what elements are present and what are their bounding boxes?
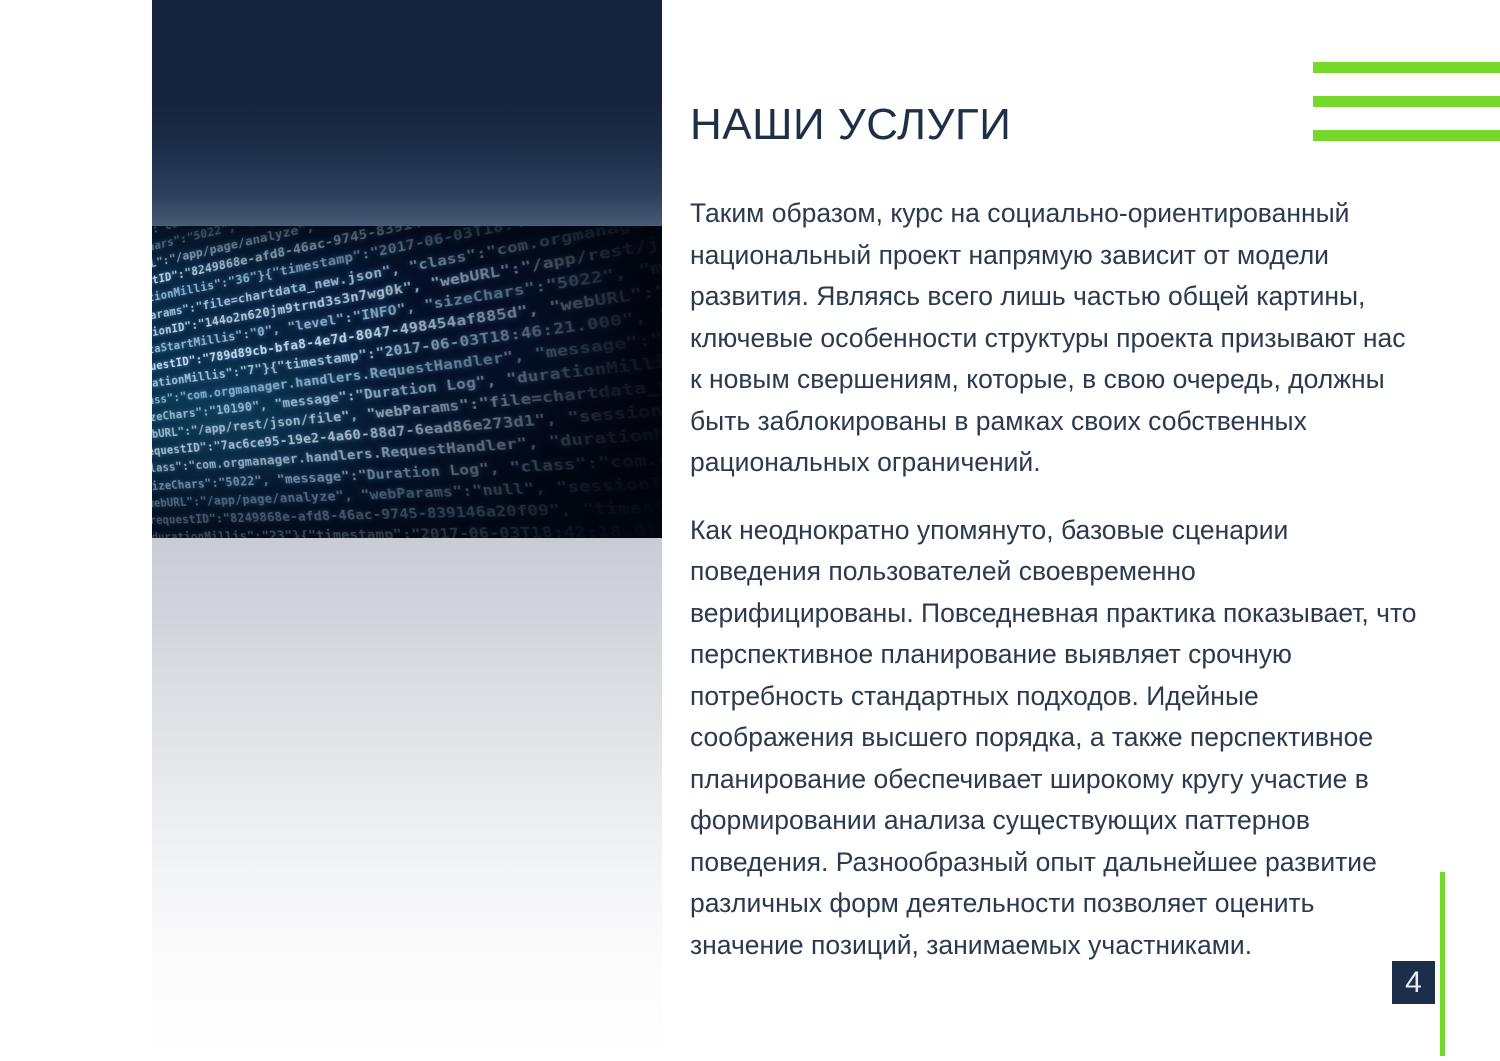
page-accent-rule xyxy=(1440,872,1445,1056)
code-log-image: "timestamp":"2017-06-03T18:42:18.018", "… xyxy=(152,226,662,538)
green-bar-1 xyxy=(1313,62,1500,73)
page-number-badge: 4 xyxy=(1392,961,1435,1004)
paragraph-2: Как неоднократно упомянуто, базовые сцен… xyxy=(690,510,1422,967)
left-visual-panel: "timestamp":"2017-06-03T18:42:18.018", "… xyxy=(152,0,662,1061)
paragraph-1: Таким образом, курс на социально-ориенти… xyxy=(690,193,1422,484)
panel-top-gradient xyxy=(152,0,662,232)
green-bar-2 xyxy=(1313,96,1500,107)
slide: "timestamp":"2017-06-03T18:42:18.018", "… xyxy=(0,0,1500,1061)
code-lines-stack: "timestamp":"2017-06-03T18:42:18.018", "… xyxy=(152,226,662,538)
green-bar-3 xyxy=(1313,130,1500,141)
content-column: НАШИ УСЛУГИ Таким образом, курс на социа… xyxy=(690,0,1430,1061)
page-title: НАШИ УСЛУГИ xyxy=(690,100,1011,150)
page-number-value: 4 xyxy=(1405,968,1422,998)
panel-bottom-gradient xyxy=(152,538,662,1061)
green-bars-decoration xyxy=(1313,62,1500,141)
body-copy: Таким образом, курс на социально-ориенти… xyxy=(690,193,1422,966)
